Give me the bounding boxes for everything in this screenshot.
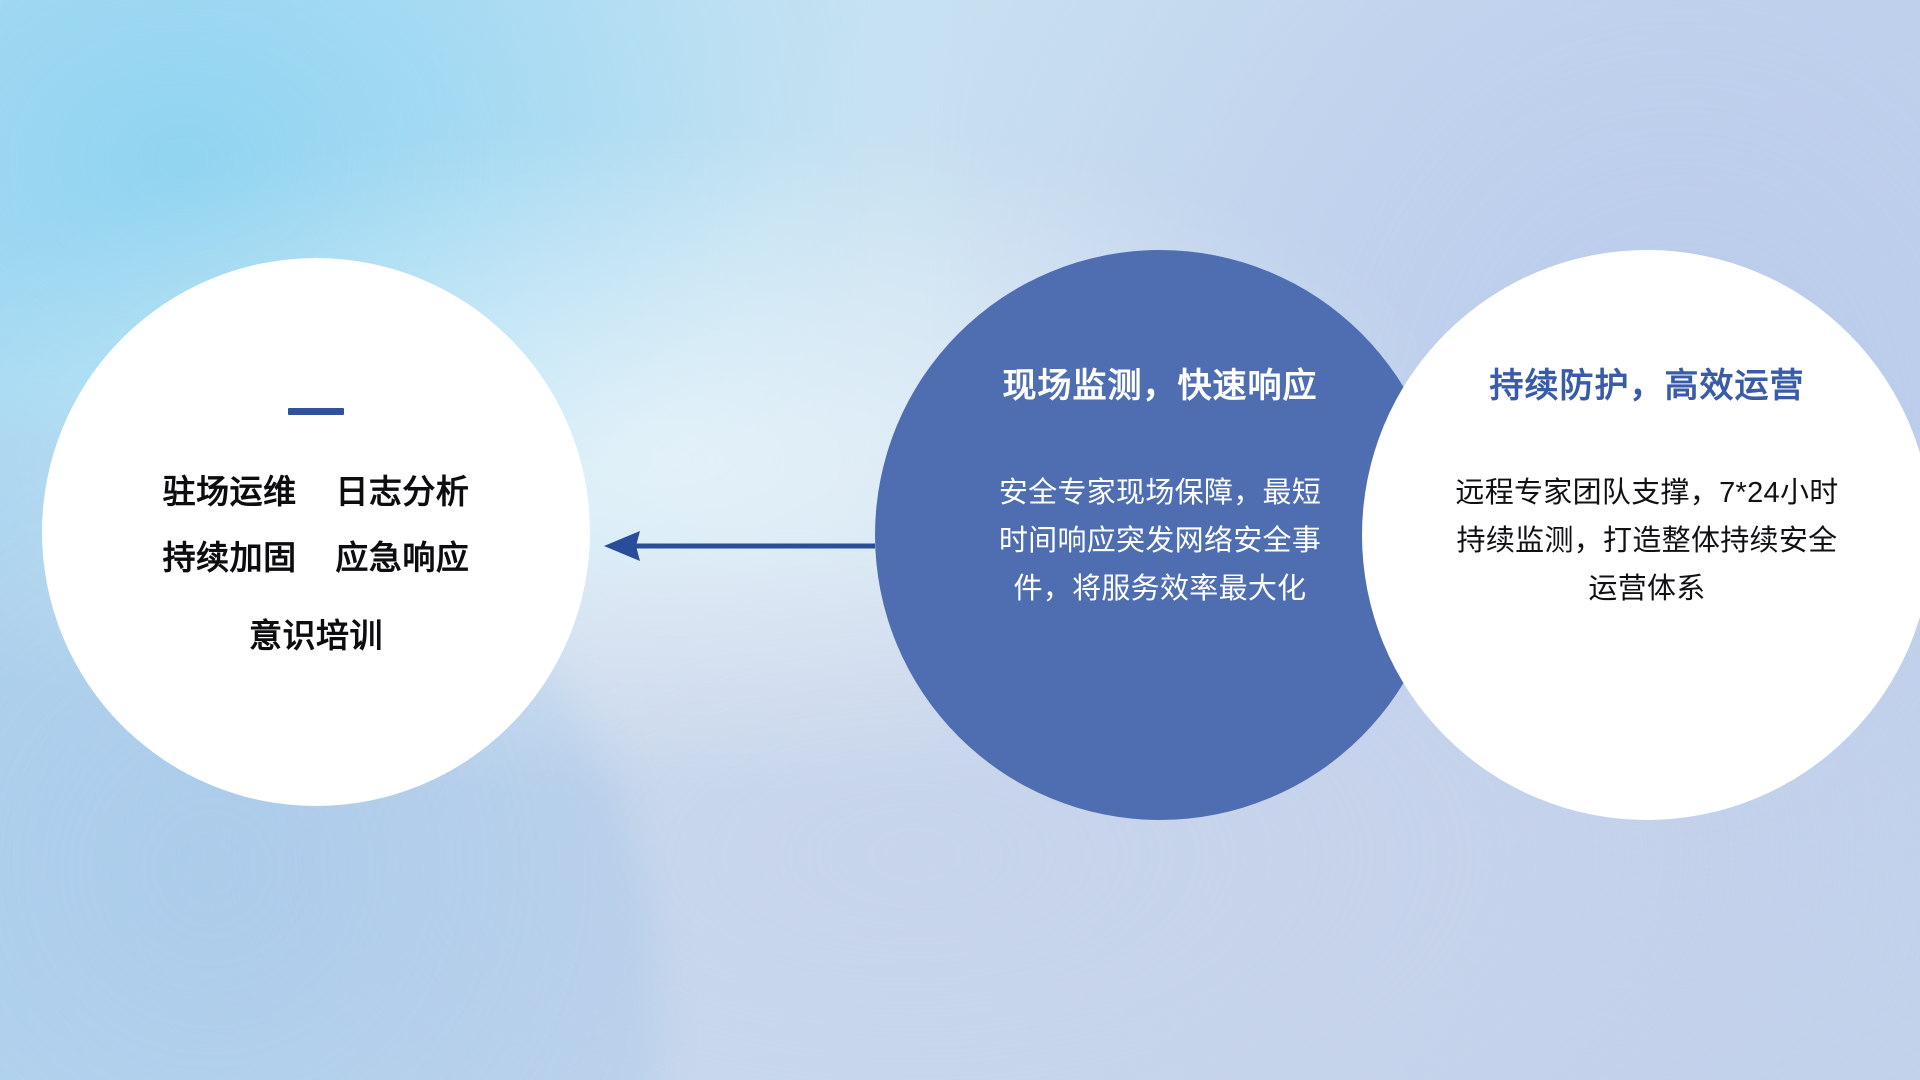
capability-line-1: 驻场运维 日志分析	[163, 461, 470, 523]
divider-dash-icon	[288, 408, 344, 415]
capability-line-2: 持续加固 应急响应	[163, 527, 470, 589]
continuous-protection-body: 远程专家团队支撑，7*24小时持续监测，打造整体持续安全运营体系	[1447, 469, 1847, 613]
continuous-protection-title: 持续防护，高效运营	[1490, 358, 1805, 407]
capabilities-list: 驻场运维 日志分析 持续加固 应急响应 意识培训	[163, 461, 470, 667]
continuous-protection-circle: 持续防护，高效运营 远程专家团队支撑，7*24小时持续监测，打造整体持续安全运营…	[1362, 250, 1920, 820]
capabilities-circle: 驻场运维 日志分析 持续加固 应急响应 意识培训	[42, 258, 590, 806]
onsite-monitoring-circle: 现场监测，快速响应 安全专家现场保障，最短时间响应突发网络安全事件，将服务效率最…	[875, 250, 1445, 820]
slide-canvas: 驻场运维 日志分析 持续加固 应急响应 意识培训 现场监测，快速响应 安全专家现…	[0, 0, 1920, 1080]
onsite-monitoring-title: 现场监测，快速响应	[1003, 358, 1318, 407]
capability-line-3: 意识培训	[163, 605, 470, 667]
onsite-monitoring-body: 安全专家现场保障，最短时间响应突发网络安全事件，将服务效率最大化	[990, 469, 1330, 613]
